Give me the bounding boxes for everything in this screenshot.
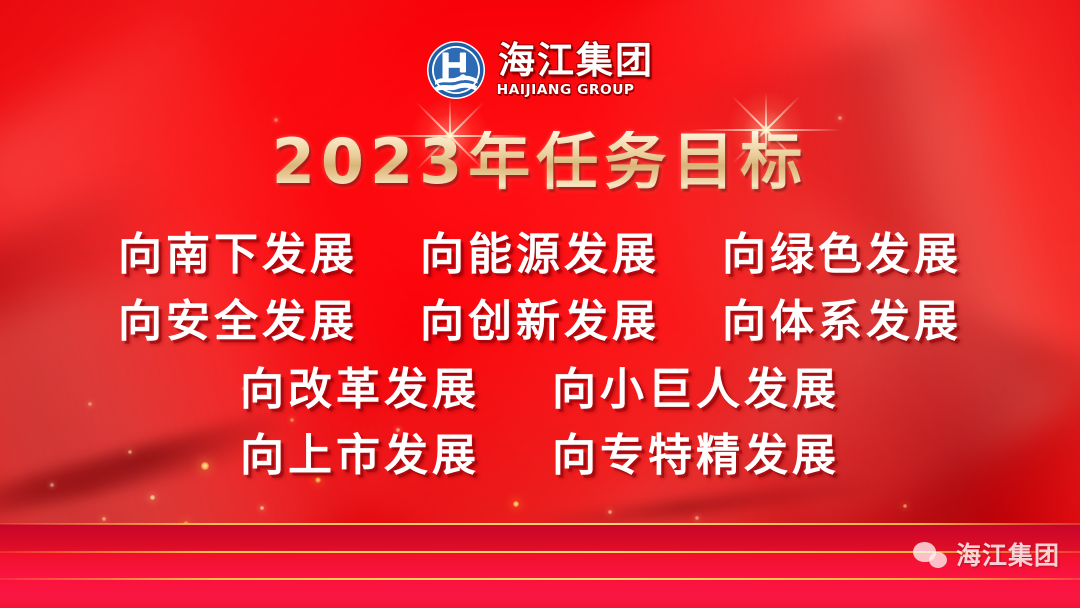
slogan-row-2: 向安全发展 向创新发展 向体系发展 [0,300,1080,362]
gold-divider-line-3 [0,578,1080,580]
slogan-item: 向南下发展 [118,233,358,277]
brand-logo: 海江集团 HAIJIANG GROUP [0,40,1080,100]
slogan-item: 向上市发展 [240,434,480,478]
page-title: 2023年任务目标 [272,131,809,193]
slogan-row-3: 向改革发展 向小巨人发展 [0,368,1080,430]
wechat-icon [913,540,947,568]
wechat-bubble-small [929,552,947,568]
slogan-item: 向专特精发展 [552,434,840,478]
brand-name-cn: 海江集团 [498,42,654,79]
poster-canvas: 海江集团 HAIJIANG GROUP 2023年任务目标 向南下发展 向能源发… [0,0,1080,608]
slogan-item: 向小巨人发展 [552,368,840,412]
watermark-label: 海江集团 [956,536,1060,572]
slogan-item: 向绿色发展 [722,233,962,277]
ribbon-band-lower [0,579,1080,608]
brand-name-en: HAIJIANG GROUP [497,82,635,98]
slogan-item: 向改革发展 [240,368,480,412]
haijiang-circle-wave-h-logo [426,40,486,100]
gold-divider-line-1 [0,523,1080,525]
slogan-item: 向创新发展 [420,300,660,344]
slogan-row-1: 向南下发展 向能源发展 向绿色发展 [0,233,1080,295]
slogan-item: 向能源发展 [420,233,660,277]
slogan-grid: 向南下发展 向能源发展 向绿色发展 向安全发展 向创新发展 向体系发展 向改革发… [0,233,1080,496]
wechat-watermark: 海江集团 [913,536,1060,572]
slogan-item: 向体系发展 [722,300,962,344]
slogan-row-4: 向上市发展 向专特精发展 [0,434,1080,496]
brand-wordmark: 海江集团 HAIJIANG GROUP [498,42,654,98]
slogan-item: 向安全发展 [118,300,358,344]
title-container: 2023年任务目标 [0,131,1080,193]
